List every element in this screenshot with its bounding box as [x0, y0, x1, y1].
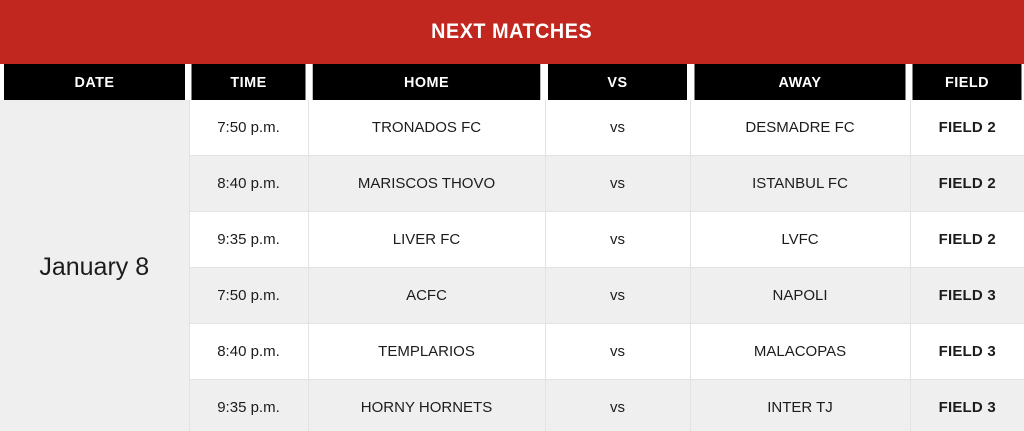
- cell-away: INTER TJ: [690, 380, 910, 431]
- cell-time: 7:50 p.m.: [189, 100, 308, 156]
- page-title: NEXT MATCHES: [431, 20, 592, 44]
- cell-field: FIELD 3: [910, 268, 1024, 324]
- cell-time: 7:50 p.m.: [189, 268, 308, 324]
- cell-away: LVFC: [690, 212, 910, 268]
- cell-time: 9:35 p.m.: [189, 212, 308, 268]
- column-header-away[interactable]: AWAY: [694, 64, 905, 100]
- cell-field: FIELD 3: [910, 380, 1024, 431]
- cell-away: MALACOPAS: [690, 324, 910, 380]
- cell-time: 9:35 p.m.: [189, 380, 308, 431]
- cell-vs: vs: [545, 324, 690, 380]
- column-header-vs[interactable]: VS: [548, 64, 687, 100]
- cell-vs: vs: [545, 380, 690, 431]
- cell-home: TRONADOS FC: [308, 100, 545, 156]
- cell-home: LIVER FC: [308, 212, 545, 268]
- cell-away: DESMADRE FC: [690, 100, 910, 156]
- next-matches-widget: NEXT MATCHES DATE TIME HOME VS AWAY FIEL…: [0, 0, 1024, 431]
- cell-time: 8:40 p.m.: [189, 156, 308, 212]
- column-header-time[interactable]: TIME: [191, 64, 305, 100]
- cell-field: FIELD 2: [910, 212, 1024, 268]
- table-header: DATE TIME HOME VS AWAY FIELD: [0, 64, 1024, 100]
- table-body: January 8 7:50 p.m. TRONADOS FC vs DESMA…: [0, 100, 1024, 431]
- matches-table: DATE TIME HOME VS AWAY FIELD January 8 7…: [0, 64, 1024, 431]
- cell-home: HORNY HORNETS: [308, 380, 545, 431]
- cell-vs: vs: [545, 212, 690, 268]
- cell-vs: vs: [545, 156, 690, 212]
- banner: NEXT MATCHES: [0, 0, 1024, 64]
- cell-field: FIELD 2: [910, 156, 1024, 212]
- column-header-date[interactable]: DATE: [4, 64, 185, 100]
- column-header-field[interactable]: FIELD: [912, 64, 1021, 100]
- cell-away: NAPOLI: [690, 268, 910, 324]
- header-row: DATE TIME HOME VS AWAY FIELD: [0, 64, 1024, 100]
- cell-vs: vs: [545, 100, 690, 156]
- cell-field: FIELD 2: [910, 100, 1024, 156]
- table-row[interactable]: January 8 7:50 p.m. TRONADOS FC vs DESMA…: [0, 100, 1024, 156]
- column-header-home[interactable]: HOME: [313, 64, 541, 100]
- cell-time: 8:40 p.m.: [189, 324, 308, 380]
- cell-vs: vs: [545, 268, 690, 324]
- cell-home: TEMPLARIOS: [308, 324, 545, 380]
- cell-home: MARISCOS THOVO: [308, 156, 545, 212]
- cell-field: FIELD 3: [910, 324, 1024, 380]
- date-group-cell: January 8: [0, 100, 189, 431]
- cell-away: ISTANBUL FC: [690, 156, 910, 212]
- cell-home: ACFC: [308, 268, 545, 324]
